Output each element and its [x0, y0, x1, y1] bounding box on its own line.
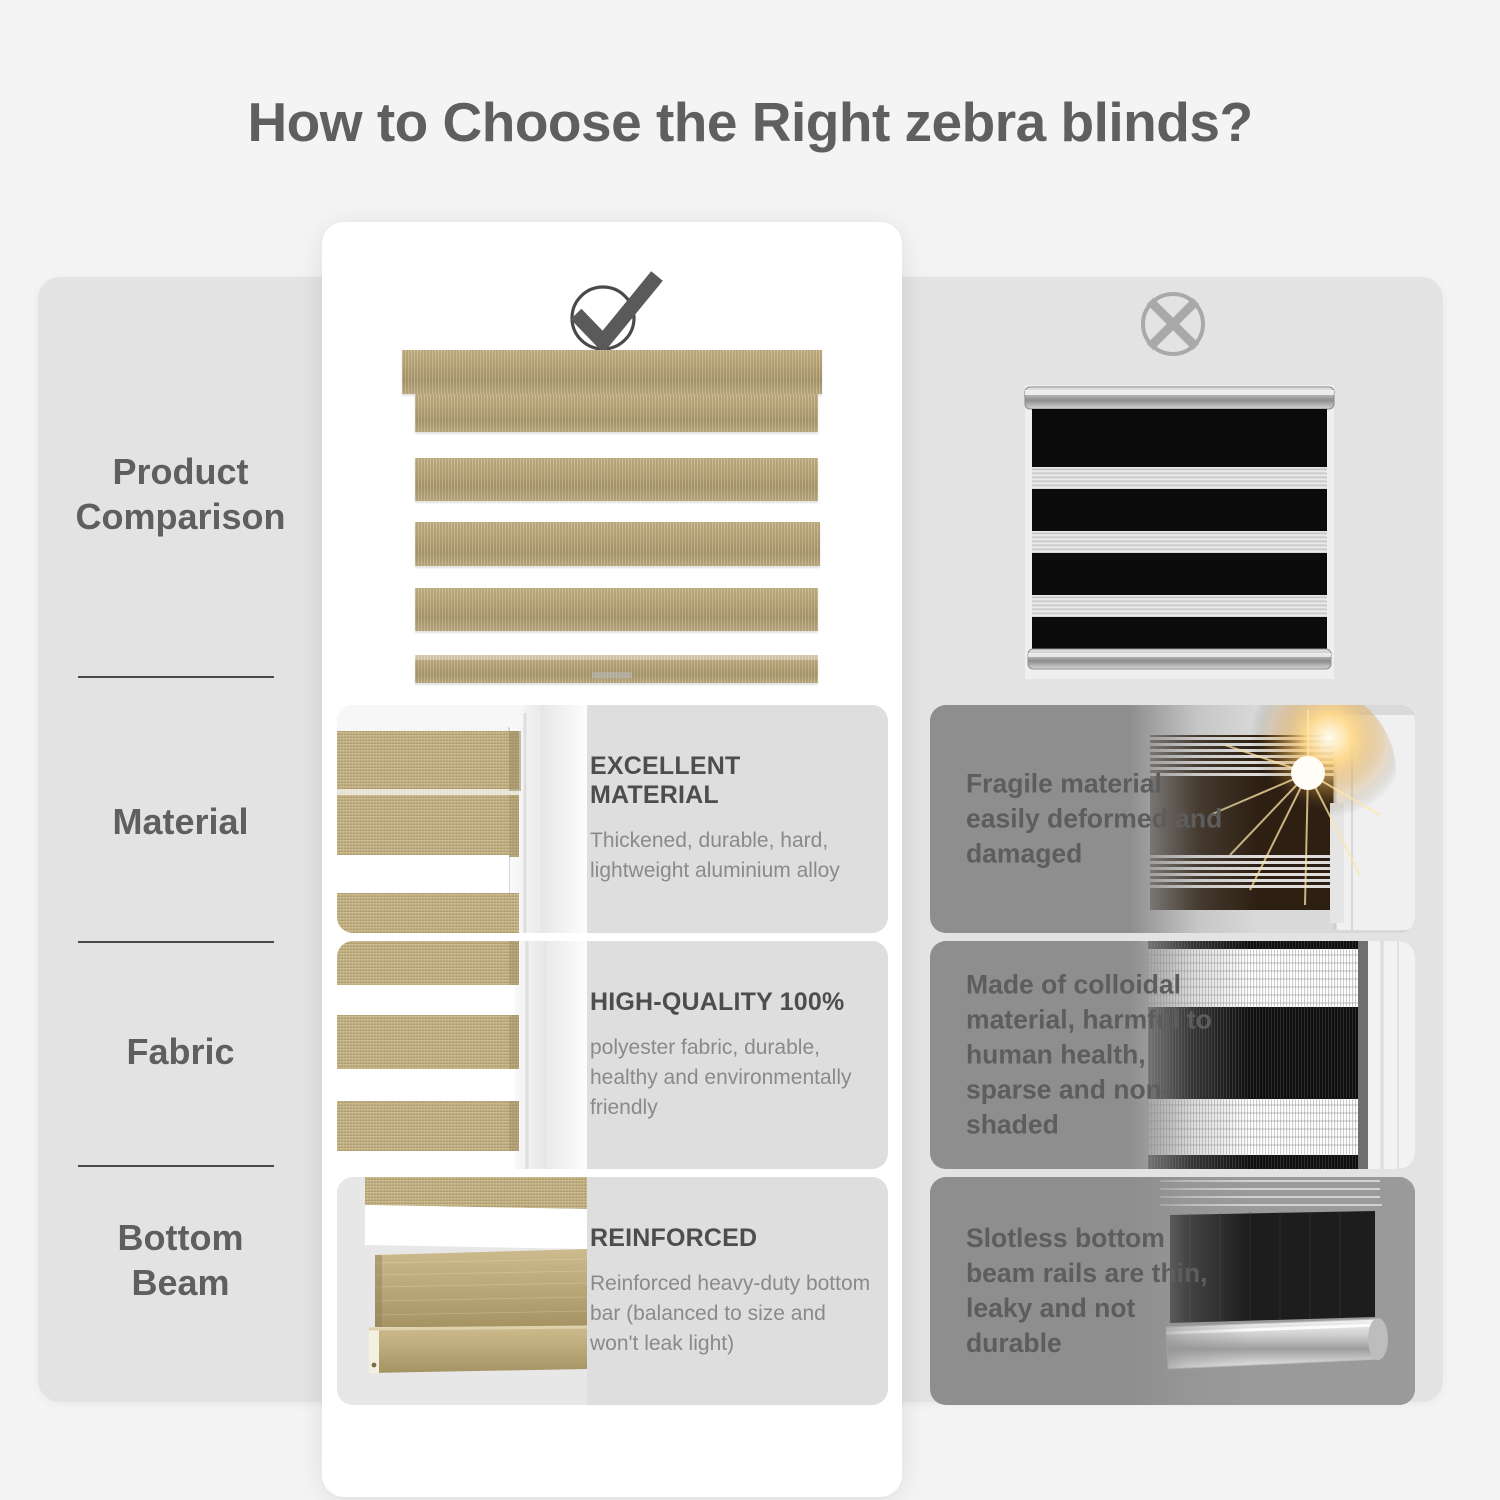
- row-divider: [78, 1165, 274, 1167]
- bad-feature-text: Slotless bottom beam rails are thin, lea…: [966, 1221, 1226, 1361]
- good-feature-text: EXCELLENT MATERIAL Thickened, durable, h…: [590, 752, 875, 886]
- good-feature-heading: HIGH-QUALITY 100%: [590, 988, 875, 1017]
- good-feature-body: polyester fabric, durable, healthy and e…: [590, 1033, 875, 1122]
- bad-hero-image: [1012, 373, 1347, 691]
- good-product-card: EXCELLENT MATERIAL Thickened, durable, h…: [322, 222, 902, 1497]
- bad-feature-card: Made of colloidal material, harmful to h…: [930, 941, 1415, 1169]
- good-hero-image: [402, 350, 822, 702]
- row-label-bottom-beam: Bottom Beam: [38, 1215, 323, 1305]
- good-feature-image: [337, 941, 587, 1169]
- good-feature-text: REINFORCED Reinforced heavy-duty bottom …: [590, 1224, 875, 1358]
- row-divider: [78, 941, 274, 943]
- bad-product-column: Fragile material easily deformed and dam…: [902, 277, 1443, 1402]
- bad-feature-text: Made of colloidal material, harmful to h…: [966, 968, 1226, 1143]
- row-label-material: Material: [38, 799, 323, 844]
- row-label-line1: Fabric: [38, 1029, 323, 1074]
- row-label-fabric: Fabric: [38, 1029, 323, 1074]
- bad-feature-card: Slotless bottom beam rails are thin, lea…: [930, 1177, 1415, 1405]
- row-label-line1: Material: [38, 799, 323, 844]
- good-feature-card: HIGH-QUALITY 100% polyester fabric, dura…: [337, 941, 888, 1169]
- row-divider: [78, 676, 274, 678]
- row-label-line2: Beam: [38, 1260, 323, 1305]
- row-label-product-comparison: Product Comparison: [38, 449, 323, 539]
- good-feature-body: Thickened, durable, hard, lightweight al…: [590, 826, 875, 886]
- good-feature-image: [337, 705, 587, 933]
- row-label-line1: Bottom: [38, 1215, 323, 1260]
- bad-feature-text: Fragile material easily deformed and dam…: [966, 767, 1226, 872]
- good-feature-heading: EXCELLENT MATERIAL: [590, 752, 875, 810]
- good-feature-heading: REINFORCED: [590, 1224, 875, 1253]
- check-circle-icon: [322, 270, 902, 356]
- bad-feature-card: Fragile material easily deformed and dam…: [930, 705, 1415, 933]
- page-title: How to Choose the Right zebra blinds?: [0, 90, 1500, 154]
- row-label-line2: Comparison: [38, 494, 323, 539]
- row-label-line1: Product: [38, 449, 323, 494]
- good-feature-card: REINFORCED Reinforced heavy-duty bottom …: [337, 1177, 888, 1405]
- good-feature-card: EXCELLENT MATERIAL Thickened, durable, h…: [337, 705, 888, 933]
- row-label-column: Product Comparison Material Fabric Botto…: [38, 277, 323, 1402]
- good-feature-text: HIGH-QUALITY 100% polyester fabric, dura…: [590, 988, 875, 1122]
- infographic-root: How to Choose the Right zebra blinds? Pr…: [0, 0, 1500, 1500]
- x-circle-icon: [902, 285, 1443, 363]
- good-feature-image: [337, 1177, 587, 1405]
- good-feature-body: Reinforced heavy-duty bottom bar (balanc…: [590, 1269, 875, 1358]
